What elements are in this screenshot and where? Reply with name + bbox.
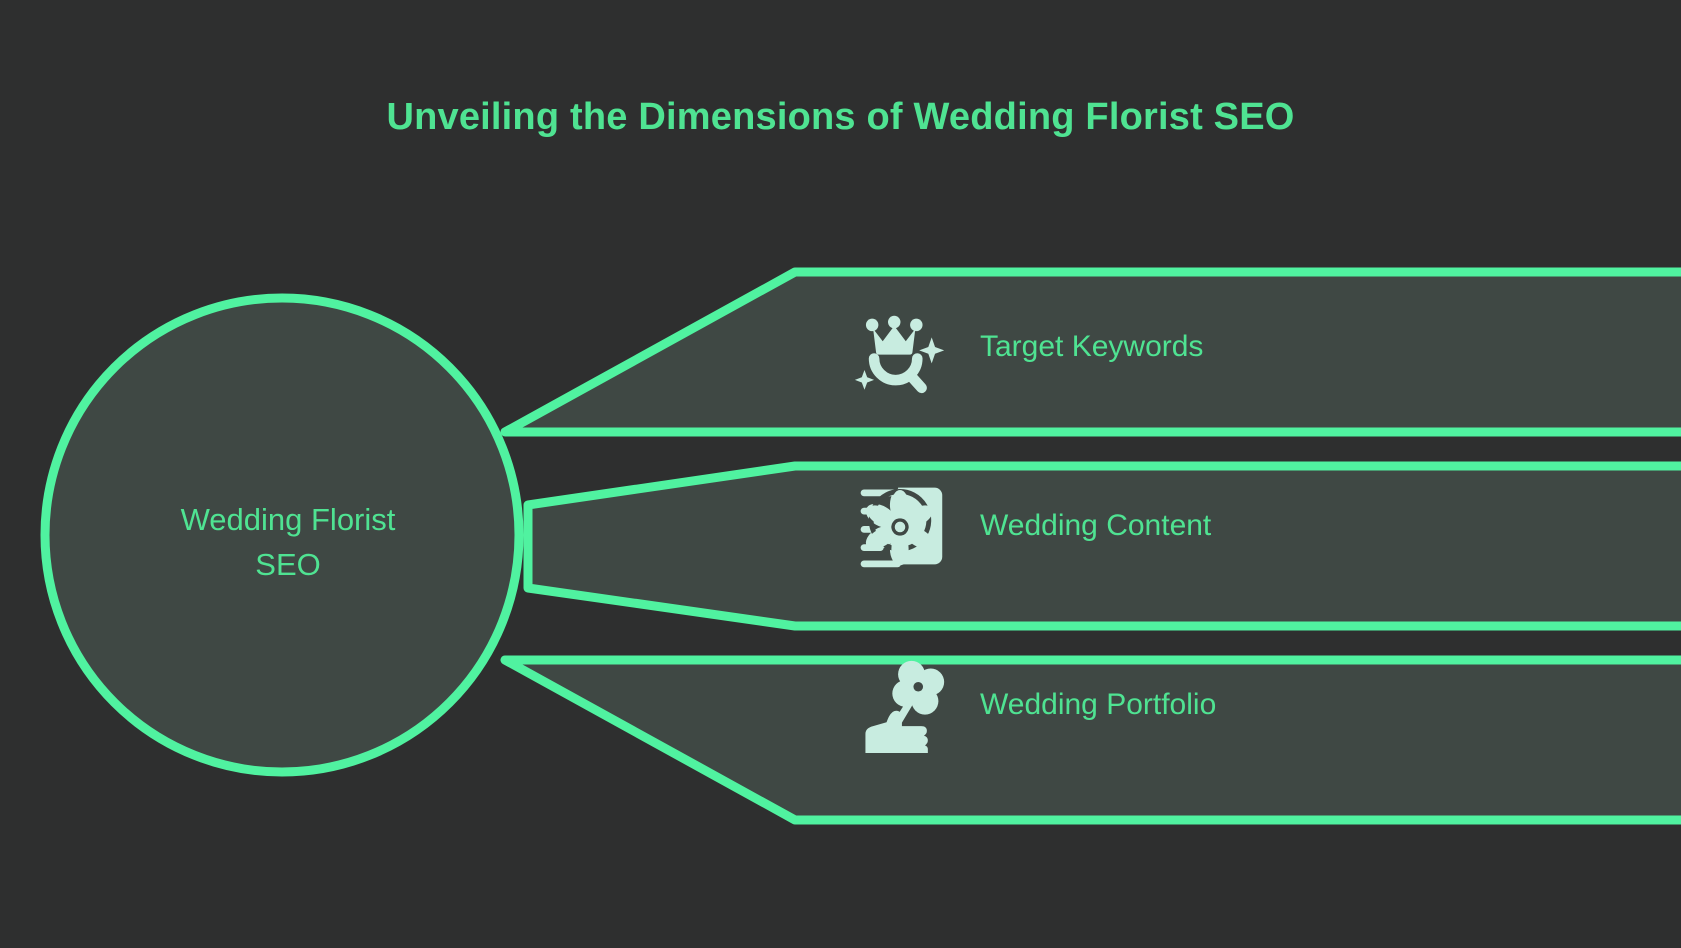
diagram-canvas bbox=[0, 0, 1681, 948]
infographic-root: Unveiling the Dimensions of Wedding Flor… bbox=[0, 0, 1681, 948]
branch-label-wedding-content: Wedding Content bbox=[980, 507, 1211, 545]
crown-magnifier-sparkle-icon bbox=[850, 297, 950, 397]
branch-label-wedding-portfolio: Wedding Portfolio bbox=[980, 686, 1216, 724]
page-title: Unveiling the Dimensions of Wedding Flor… bbox=[0, 95, 1681, 141]
branch-item-target-keywords[interactable]: Target Keywords bbox=[850, 287, 1203, 407]
branch-item-wedding-portfolio[interactable]: Wedding Portfolio bbox=[850, 645, 1216, 765]
branch-label-target-keywords: Target Keywords bbox=[980, 328, 1203, 366]
hand-holding-flower-icon bbox=[850, 655, 950, 755]
branch-item-wedding-content[interactable]: Wedding Content bbox=[850, 466, 1211, 586]
flower-document-icon bbox=[850, 476, 950, 576]
center-node-circle[interactable] bbox=[45, 298, 519, 772]
